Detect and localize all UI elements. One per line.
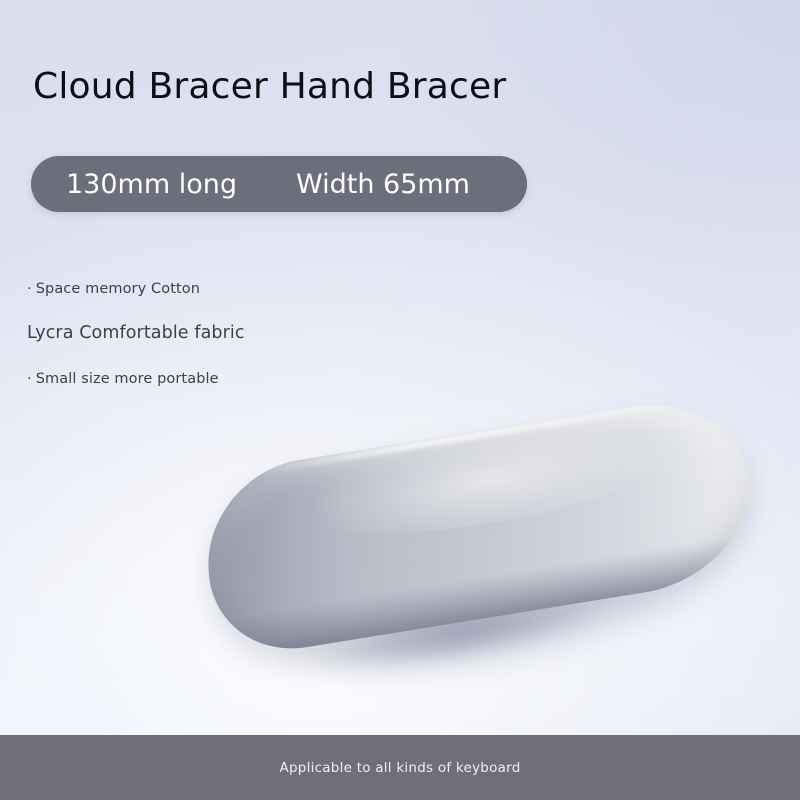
- feature-label: Small size more portable: [36, 371, 219, 387]
- feature-label: Space memory Cotton: [36, 281, 200, 297]
- product-contact-shadow: [237, 563, 673, 707]
- product-photo: [0, 0, 800, 800]
- pad-front-lip: [211, 534, 754, 663]
- background-gradient: [0, 0, 800, 800]
- pad-right-highlight: [584, 388, 753, 602]
- pad-crown-highlight: [246, 388, 728, 562]
- footer-caption: Applicable to all kinds of keyboard: [279, 760, 520, 776]
- badge-length-label: 130mm long: [66, 169, 237, 200]
- bullet-dot-icon: ·: [27, 281, 32, 297]
- feature-item: Lycra Comfortable fabric: [27, 323, 245, 343]
- product-shadow: [205, 516, 759, 733]
- footer-caption-bar: Applicable to all kinds of keyboard: [0, 735, 800, 800]
- feature-label: Lycra Comfortable fabric: [27, 323, 245, 343]
- feature-item: ·Small size more portable: [27, 371, 219, 387]
- size-badge: 130mm long Width 65mm: [31, 156, 527, 212]
- feature-item: ·Space memory Cotton: [27, 281, 200, 297]
- wrist-rest-pad: [205, 388, 753, 663]
- product-promo-image: Cloud Bracer Hand Bracer 130mm long Widt…: [0, 0, 800, 800]
- pad-back-rim-highlight: [237, 391, 724, 478]
- badge-width-label: Width 65mm: [296, 169, 470, 200]
- page-title: Cloud Bracer Hand Bracer: [33, 66, 506, 107]
- fabric-mesh-texture: [205, 388, 753, 663]
- pad-left-shading: [205, 452, 353, 662]
- bullet-dot-icon: ·: [27, 371, 32, 387]
